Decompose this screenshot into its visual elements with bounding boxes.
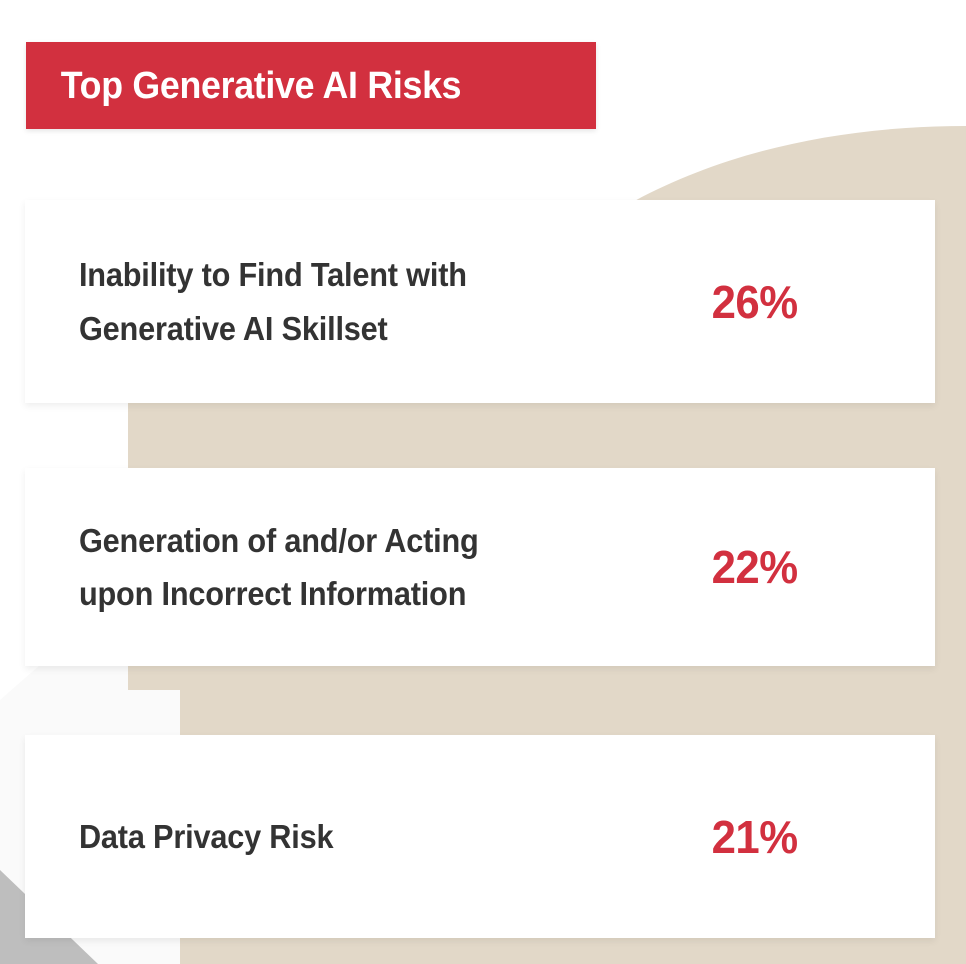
risk-card: Inability to Find Talent with Generative…	[25, 200, 935, 403]
page-title-banner: Top Generative AI Risks	[26, 42, 596, 129]
risk-percentage: 26%	[685, 279, 923, 325]
risk-label: Data Privacy Risk	[25, 810, 639, 863]
risk-label-line: upon Incorrect Information	[79, 567, 639, 620]
risk-label-line: Inability to Find Talent with	[79, 248, 639, 301]
page-title: Top Generative AI Risks	[26, 67, 461, 105]
risk-label: Generation of and/or Acting upon Incorre…	[25, 514, 639, 621]
risk-label: Inability to Find Talent with Generative…	[25, 248, 639, 355]
risk-card: Data Privacy Risk 21%	[25, 735, 935, 938]
infographic-canvas: Top Generative AI Risks Inability to Fin…	[0, 0, 966, 964]
risk-label-line: Generative AI Skillset	[79, 302, 639, 355]
risk-label-line: Data Privacy Risk	[79, 810, 639, 863]
risk-percentage: 22%	[685, 544, 923, 590]
risk-percentage: 21%	[685, 814, 923, 860]
risk-card: Generation of and/or Acting upon Incorre…	[25, 468, 935, 666]
risk-label-line: Generation of and/or Acting	[79, 514, 639, 567]
